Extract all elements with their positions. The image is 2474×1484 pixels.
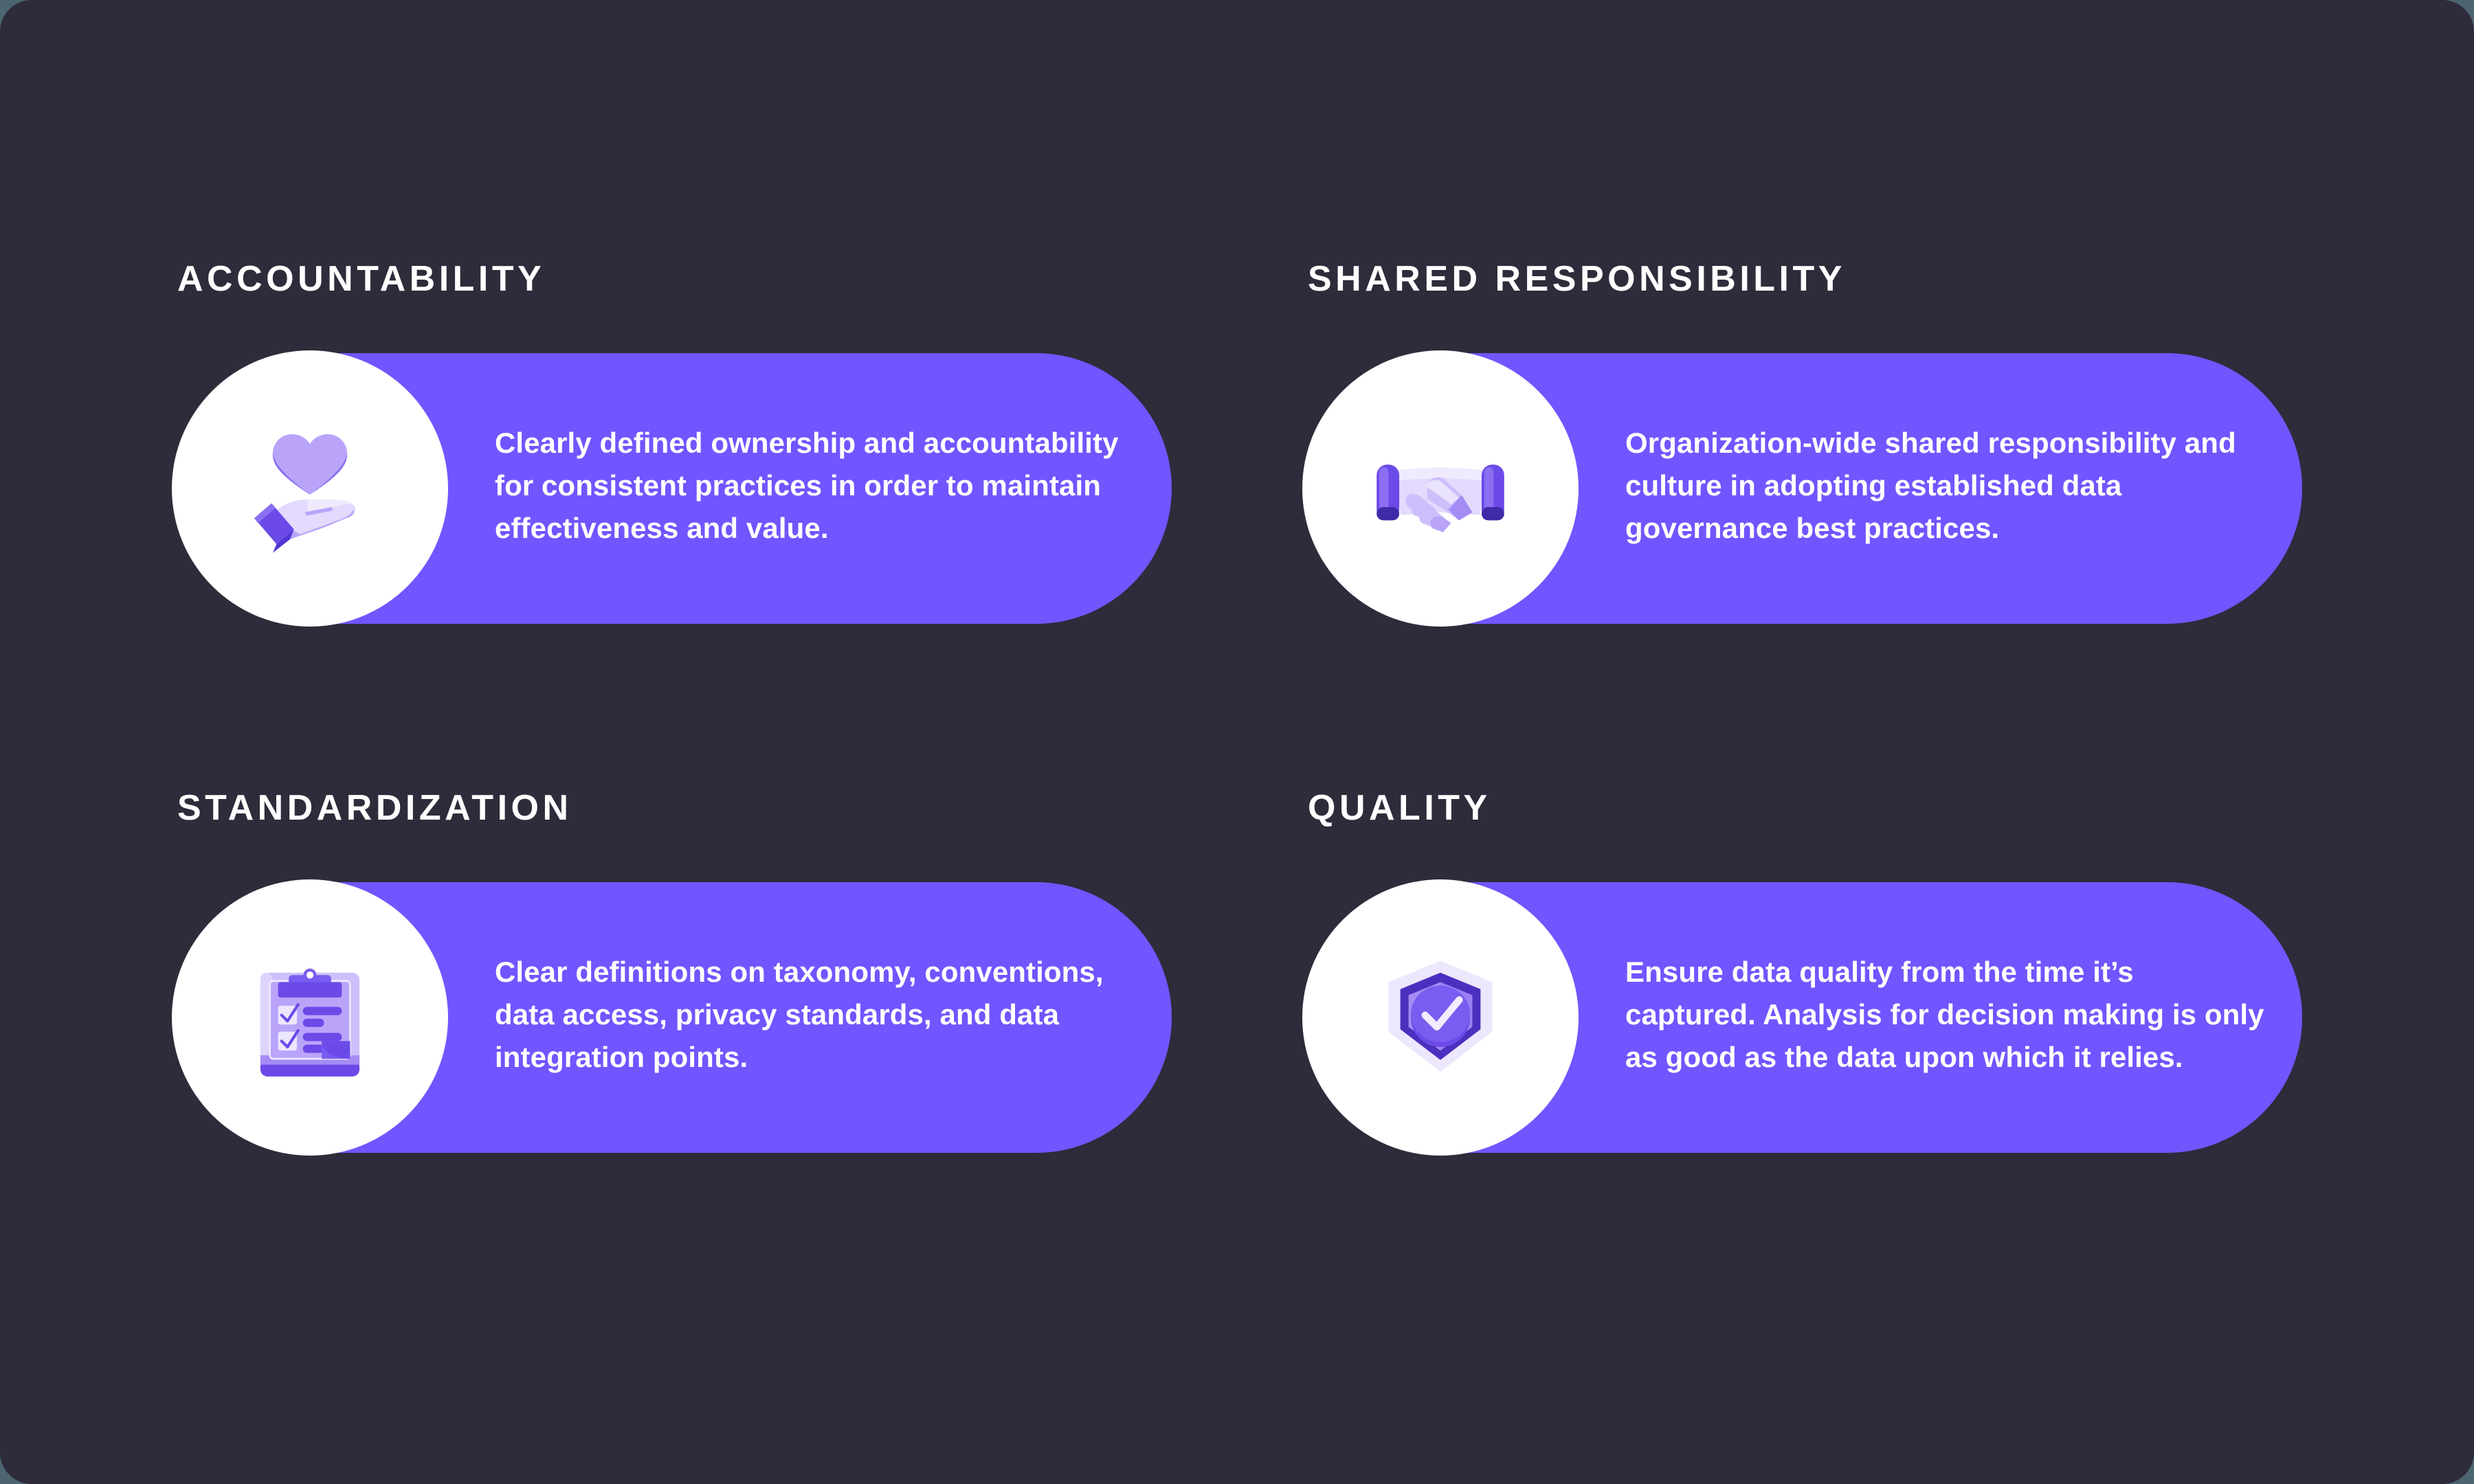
icon-badge — [1302, 350, 1579, 627]
icon-badge — [172, 879, 448, 1156]
principle-card-shared-responsibility: SHARED RESPONSIBILITY Organization-wide … — [1302, 261, 2333, 627]
card-description: Clearly defined ownership and accountabi… — [495, 422, 1141, 549]
card-pill: Ensure data quality from the time it’s c… — [1302, 879, 2333, 1156]
principle-card-accountability: ACCOUNTABILITY Clearly defined ownership… — [172, 261, 1203, 627]
pill-text-area: Organization-wide shared responsibility … — [1625, 350, 2271, 621]
card-pill: Clear definitions on taxonomy, conventio… — [172, 879, 1203, 1156]
shield-check-icon — [1370, 947, 1511, 1088]
card-description: Ensure data quality from the time it’s c… — [1625, 951, 2271, 1078]
card-title: STANDARDIZATION — [177, 790, 1203, 826]
card-pill: Organization-wide shared responsibility … — [1302, 350, 2333, 627]
principles-grid: ACCOUNTABILITY Clearly defined ownership… — [172, 261, 2302, 1223]
heart-in-hand-icon — [236, 414, 384, 563]
card-title: ACCOUNTABILITY — [177, 261, 1203, 297]
icon-badge — [1302, 879, 1579, 1156]
card-title: SHARED RESPONSIBILITY — [1308, 261, 2333, 297]
icon-badge — [172, 350, 448, 627]
card-description: Organization-wide shared responsibility … — [1625, 422, 2271, 549]
pill-text-area: Clearly defined ownership and accountabi… — [495, 350, 1141, 621]
pill-text-area: Clear definitions on taxonomy, conventio… — [495, 879, 1141, 1150]
page-canvas: ACCOUNTABILITY Clearly defined ownership… — [0, 0, 2474, 1484]
clipboard-checklist-icon — [239, 947, 381, 1088]
pill-text-area: Ensure data quality from the time it’s c… — [1625, 879, 2271, 1150]
principle-card-quality: QUALITY Ensure data quality from the tim… — [1302, 790, 2333, 1156]
card-description: Clear definitions on taxonomy, conventio… — [495, 951, 1141, 1078]
principle-card-standardization: STANDARDIZATION Clear definitions on tax… — [172, 790, 1203, 1156]
card-title: QUALITY — [1308, 790, 2333, 826]
card-pill: Clearly defined ownership and accountabi… — [172, 350, 1203, 627]
handshake-icon — [1361, 409, 1520, 568]
